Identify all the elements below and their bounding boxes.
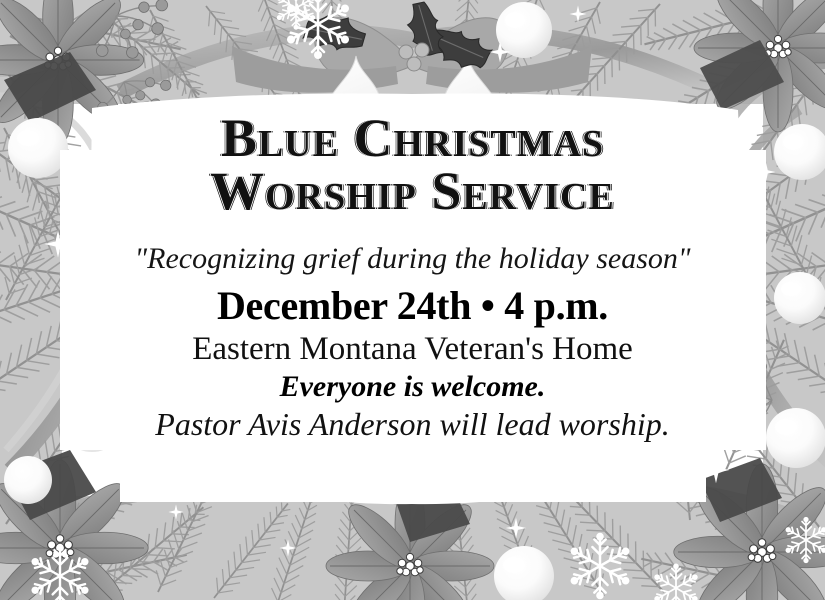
christmas-flyer-poster: Blue Christmas Worship Service "Recogniz… <box>0 0 825 600</box>
poster-text-block: Blue Christmas Worship Service "Recogniz… <box>0 0 825 600</box>
title-line-1: Blue Christmas <box>210 112 615 165</box>
event-datetime: December 24th • 4 p.m. <box>217 282 608 329</box>
poster-subtitle: "Recognizing grief during the holiday se… <box>135 242 691 276</box>
title-line-2: Worship Service <box>210 165 615 218</box>
officiant-line: Pastor Avis Anderson will lead worship. <box>155 406 669 443</box>
welcome-message: Everyone is welcome. <box>280 370 546 404</box>
poster-title: Blue Christmas Worship Service <box>210 112 615 218</box>
event-venue: Eastern Montana Veteran's Home <box>192 331 633 368</box>
